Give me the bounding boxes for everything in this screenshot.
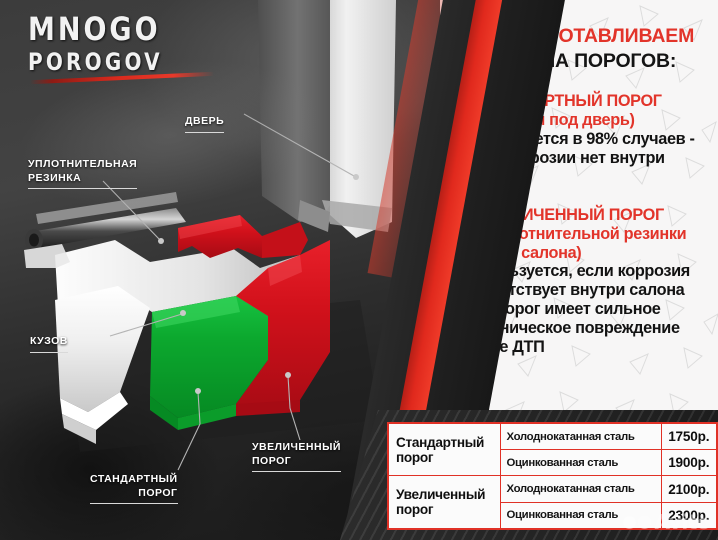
label-door-text: ДВЕРЬ <box>185 115 224 132</box>
table-cell-material: Оцинкованная сталь <box>500 502 661 529</box>
table-cell-material: Холоднокатанная сталь <box>500 476 661 502</box>
label-standard-sill-text: СТАНДАРТНЫЙ ПОРОГ <box>90 473 178 504</box>
label-increased-sill: УВЕЛИЧЕННЫЙ ПОРОГ <box>252 428 341 472</box>
label-body-text: КУЗОВ <box>30 335 68 352</box>
label-sealing-rubber-text: УПЛОТНИТЕЛЬНАЯ РЕЗИНКА <box>28 158 137 189</box>
label-increased-sill-text: УВЕЛИЧЕННЫЙ ПОРОГ <box>252 441 341 472</box>
brand-logo-line1: MNOGO <box>28 14 218 46</box>
brand-logo: MNOGO POROGOV <box>28 14 218 80</box>
table-row: Увеличенный порог Холоднокатанная сталь … <box>388 476 717 502</box>
label-door: ДВЕРЬ <box>185 102 224 133</box>
table-cell-price: 2300р. <box>661 502 717 529</box>
table-cell-price: 1900р. <box>661 450 717 476</box>
table-cell-price: 2100р. <box>661 476 717 502</box>
brand-logo-line2: POROGOV <box>28 50 218 74</box>
table-cell-material: Холоднокатанная сталь <box>500 423 661 450</box>
table-cell-type-standard: Стандартный порог <box>388 423 500 476</box>
label-body: КУЗОВ <box>30 322 68 353</box>
table-cell-material: Оцинкованная сталь <box>500 450 661 476</box>
price-table: Стандартный порог Холоднокатанная сталь … <box>387 422 718 530</box>
table-cell-type-increased: Увеличенный порог <box>388 476 500 529</box>
table-row: Стандартный порог Холоднокатанная сталь … <box>388 423 717 450</box>
label-standard-sill: СТАНДАРТНЫЙ ПОРОГ <box>90 460 178 504</box>
table-cell-price: 1750р. <box>661 423 717 450</box>
label-sealing-rubber: УПЛОТНИТЕЛЬНАЯ РЕЗИНКА <box>28 145 137 189</box>
advertisement-poster: ДВЕРЬ УПЛОТНИТЕЛЬНАЯ РЕЗИНКА КУЗОВ СТАНД… <box>0 0 718 540</box>
